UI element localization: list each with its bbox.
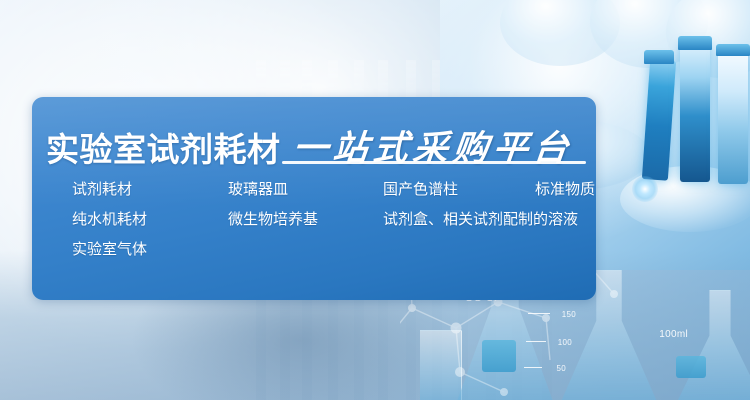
light-glint: [632, 176, 658, 202]
content-panel: 实验室试剂耗材 一站式采购平台 试剂耗材 玻璃器皿 国产色谱柱 标准物质 纯水机…: [32, 97, 596, 300]
category-row: 实验室气体: [38, 235, 590, 265]
vial-cap-icon: [644, 50, 674, 64]
category-item-lab-gases[interactable]: 实验室气体: [72, 235, 147, 265]
glassware-volume-label: 100ml: [659, 329, 688, 340]
category-item-reagent-consumables[interactable]: 试剂耗材: [72, 175, 132, 205]
category-item-kits-and-solutions[interactable]: 试剂盒、相关试剂配制的溶液: [383, 205, 578, 235]
category-item-domestic-chromatography-column[interactable]: 国产色谱柱: [383, 175, 458, 205]
category-item-microbial-culture-media[interactable]: 微生物培养基: [228, 205, 318, 235]
headline-main-text: 实验室试剂耗材: [46, 133, 281, 166]
category-item-glassware[interactable]: 玻璃器皿: [228, 175, 288, 205]
category-list: 试剂耗材 玻璃器皿 国产色谱柱 标准物质 纯水机耗材 微生物培养基 试剂盒、相关…: [38, 175, 590, 265]
cryo-vial-icon: [680, 44, 710, 182]
headline: 实验室试剂耗材 一站式采购平台: [46, 118, 586, 166]
headline-underline: [282, 161, 586, 164]
vial-cap-icon: [678, 36, 712, 50]
category-row: 纯水机耗材 微生物培养基 试剂盒、相关试剂配制的溶液: [38, 205, 590, 235]
erlenmeyer-flask-icon: [676, 290, 750, 400]
category-item-water-purifier-consumables[interactable]: 纯水机耗材: [72, 205, 147, 235]
category-row: 试剂耗材 玻璃器皿 国产色谱柱 标准物质: [38, 175, 590, 205]
cryo-vial-icon: [718, 52, 748, 184]
vial-cap-icon: [716, 44, 750, 56]
promo-banner: 250 APPROX 200 150 100 50 GG-17 100ml: [0, 0, 750, 400]
category-item-reference-material[interactable]: 标准物质: [535, 175, 595, 205]
